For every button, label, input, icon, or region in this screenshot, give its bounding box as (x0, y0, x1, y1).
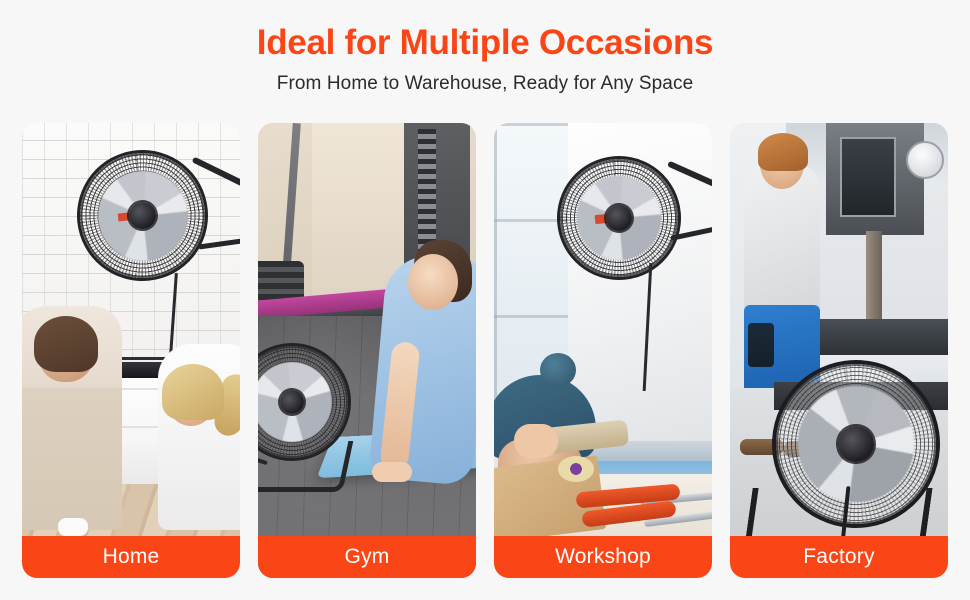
occasion-card-factory[interactable]: Factory (730, 123, 948, 578)
occasion-card-home[interactable]: Home (22, 123, 240, 578)
occasion-label-factory: Factory (730, 536, 948, 578)
occasion-card-gym[interactable]: Gym (258, 123, 476, 578)
adult-hair (34, 316, 98, 372)
fan-tripod-base (258, 441, 353, 492)
machine-spindle (866, 231, 882, 321)
page-subtitle: From Home to Warehouse, Ready for Any Sp… (0, 63, 970, 96)
gym-scene-photo (258, 123, 476, 578)
craftsman-hand (514, 424, 558, 458)
occasion-label-gym: Gym (258, 536, 476, 578)
occasion-label-workshop: Workshop (494, 536, 712, 578)
occasion-card-grid: Home (22, 123, 948, 578)
machine-head (826, 123, 924, 235)
wire-spool (906, 141, 944, 179)
product-feature-banner: Ideal for Multiple Occasions From Home t… (0, 0, 970, 600)
athlete-head (408, 254, 458, 310)
trouser-pocket (748, 323, 774, 367)
worker-hair (758, 133, 808, 171)
child-hair (162, 364, 224, 420)
beanie-pom (540, 353, 576, 387)
occasion-label-home: Home (22, 536, 240, 578)
home-scene-photo (22, 123, 240, 578)
masking-tape-roll (558, 456, 594, 482)
page-title: Ideal for Multiple Occasions (0, 0, 970, 63)
adult-sock (58, 518, 88, 536)
athlete-hand (372, 462, 412, 482)
workshop-scene-photo (494, 123, 712, 578)
wall-fan-icon (555, 154, 683, 282)
banner-header: Ideal for Multiple Occasions From Home t… (0, 0, 970, 96)
factory-scene-photo (730, 123, 948, 578)
occasion-card-workshop[interactable]: Workshop (494, 123, 712, 578)
wall-fan-icon (74, 147, 211, 284)
